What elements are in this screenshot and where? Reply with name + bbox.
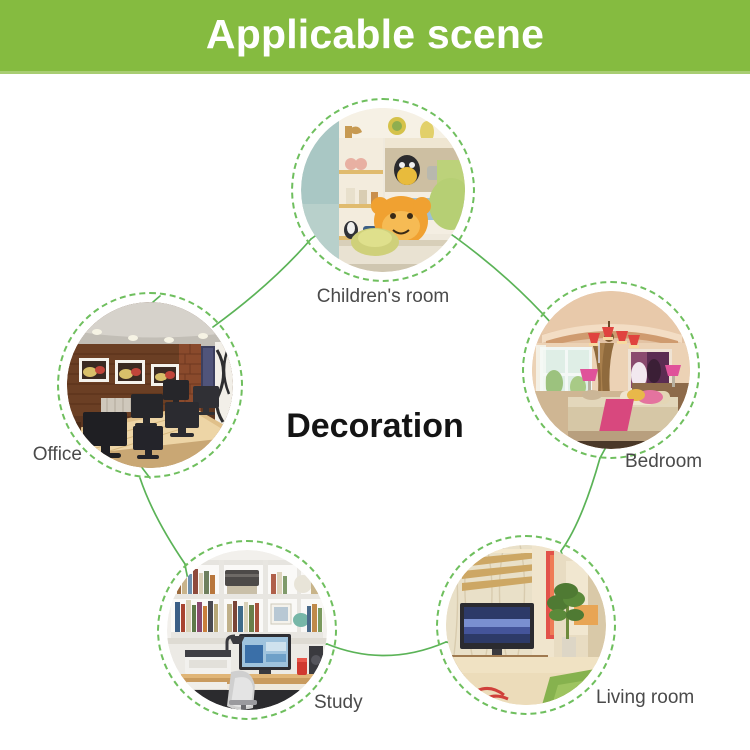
arc-living-room-to-study bbox=[327, 642, 446, 656]
scene-diagram: Decoration bbox=[0, 74, 750, 750]
applicable-scene-infographic: Applicable scene bbox=[0, 0, 750, 750]
scene-node-living-room[interactable]: Living room bbox=[436, 535, 616, 715]
scene-node-office[interactable]: Office bbox=[57, 292, 243, 478]
scene-label-living-room: Living room bbox=[596, 687, 750, 709]
photo-office bbox=[67, 302, 233, 468]
center-label: Decoration bbox=[245, 407, 505, 446]
scene-node-childrens-room[interactable]: Children's room bbox=[291, 98, 475, 282]
scene-node-study[interactable]: Study bbox=[157, 540, 337, 720]
photo-bedroom bbox=[532, 291, 690, 449]
photo-childrens-room bbox=[301, 108, 465, 272]
scene-label-office: Office bbox=[0, 444, 82, 466]
photo-living-room bbox=[446, 545, 606, 705]
scene-label-bedroom: Bedroom bbox=[625, 451, 750, 473]
scene-label-childrens-room: Children's room bbox=[283, 286, 483, 308]
scene-label-study: Study bbox=[314, 692, 454, 714]
photo-study bbox=[167, 550, 327, 710]
scene-node-bedroom[interactable]: Bedroom bbox=[522, 281, 700, 459]
page-title: Applicable scene bbox=[0, 0, 750, 71]
